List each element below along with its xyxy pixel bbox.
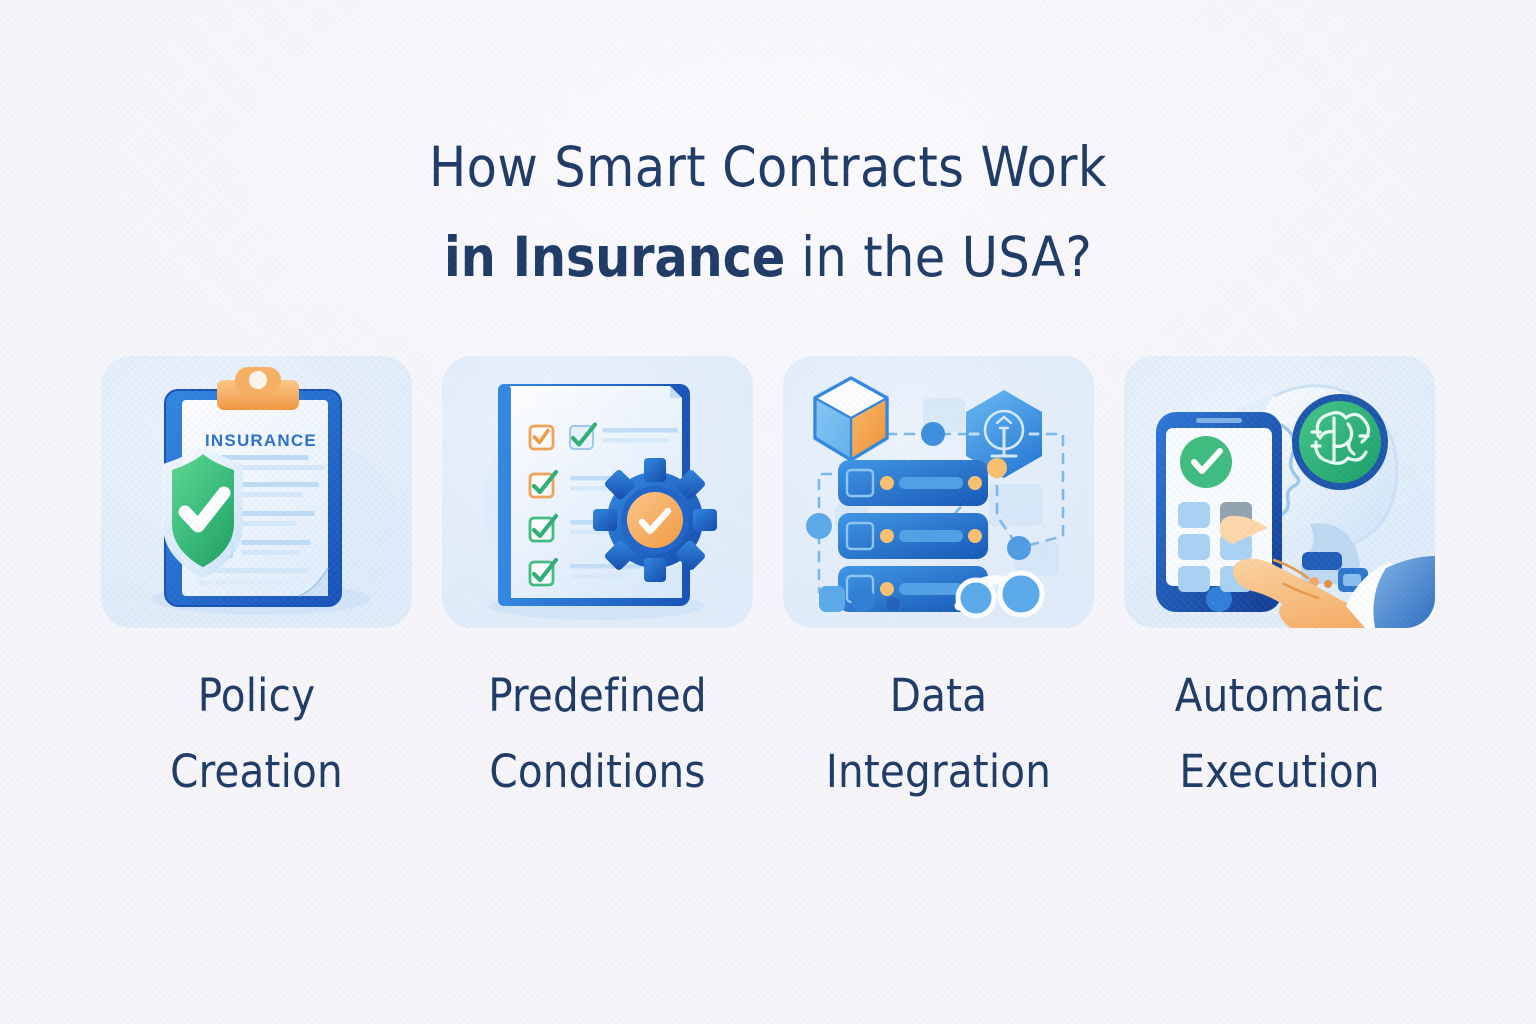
step-policy-creation[interactable]: INSURANCE xyxy=(101,356,412,810)
step-label-policy-creation: Policy Creation xyxy=(170,658,343,810)
icon-card-policy-creation: INSURANCE xyxy=(101,356,412,628)
title-line-2: in Insurance in the USA? xyxy=(0,212,1536,302)
step-label-predefined-conditions: Predefined Conditions xyxy=(488,658,707,810)
svg-text:INSURANCE: INSURANCE xyxy=(205,431,317,450)
steps-row: INSURANCE xyxy=(101,356,1435,810)
icon-card-data-integration xyxy=(783,356,1094,628)
title-emphasis: in Insurance xyxy=(444,225,785,289)
step-data-integration[interactable]: Data Integration xyxy=(783,356,1094,810)
step-automatic-execution[interactable]: Automatic Execution xyxy=(1124,356,1435,810)
server-network-icon xyxy=(783,356,1094,628)
step-label-data-integration: Data Integration xyxy=(826,658,1051,810)
smartphone-ai-hand-icon xyxy=(1124,356,1435,628)
insurance-clipboard-shield-icon: INSURANCE xyxy=(101,356,412,628)
step-predefined-conditions[interactable]: Predefined Conditions xyxy=(442,356,753,810)
title-line-2-tail: in the USA? xyxy=(785,225,1092,289)
checklist-gear-icon xyxy=(442,356,753,628)
icon-card-predefined-conditions xyxy=(442,356,753,628)
title-line-1: How Smart Contracts Work xyxy=(0,122,1536,212)
page-title: How Smart Contracts Work in Insurance in… xyxy=(0,122,1536,302)
icon-card-automatic-execution xyxy=(1124,356,1435,628)
step-label-automatic-execution: Automatic Execution xyxy=(1175,658,1384,810)
infographic-canvas: How Smart Contracts Work in Insurance in… xyxy=(0,0,1536,1024)
